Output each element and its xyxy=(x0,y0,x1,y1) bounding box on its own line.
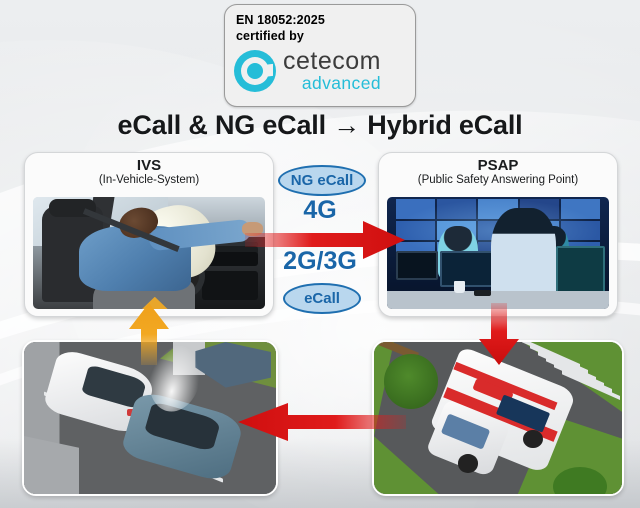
emergency-control-room-photo xyxy=(387,197,609,309)
arrow-up-amber-icon xyxy=(128,303,170,365)
card-ivs-title: IVS xyxy=(25,153,273,174)
cetecom-wordmark: cetecom advanced xyxy=(283,49,381,93)
card-psap: PSAP (Public Safety Answering Point) xyxy=(378,152,618,317)
page-title: eCall & NG eCall → Hybrid eCall xyxy=(0,110,640,141)
card-psap-title: PSAP xyxy=(379,153,617,174)
airbag-deployed-driver-photo xyxy=(33,197,265,309)
cetecom-c-mark-icon xyxy=(234,50,276,92)
certification-badge: EN 18052:2025 certified by cetecom advan… xyxy=(224,4,416,107)
badge-ecall-label: eCall xyxy=(304,290,340,307)
card-psap-subtitle: (Public Safety Answering Point) xyxy=(379,174,617,187)
badge-ecall: eCall xyxy=(283,283,361,314)
arrow-right-red-icon xyxy=(245,220,405,260)
card-ivs-subtitle: (In-Vehicle-System) xyxy=(25,174,273,187)
arrow-down-red-icon xyxy=(478,303,520,365)
infographic-canvas: EN 18052:2025 certified by cetecom advan… xyxy=(0,0,640,508)
badge-ng-ecall: NG eCall xyxy=(278,165,366,196)
brand-suffix: advanced xyxy=(283,75,381,93)
cetecom-logo: cetecom advanced xyxy=(234,49,415,93)
certificate-certified-by: certified by xyxy=(236,27,415,43)
card-ivs: IVS (In-Vehicle-System) xyxy=(24,152,274,317)
brand-name: cetecom xyxy=(283,49,381,74)
badge-ng-ecall-label: NG eCall xyxy=(291,172,354,189)
arrow-left-red-icon xyxy=(238,402,406,442)
certificate-standard: EN 18052:2025 xyxy=(236,5,415,27)
